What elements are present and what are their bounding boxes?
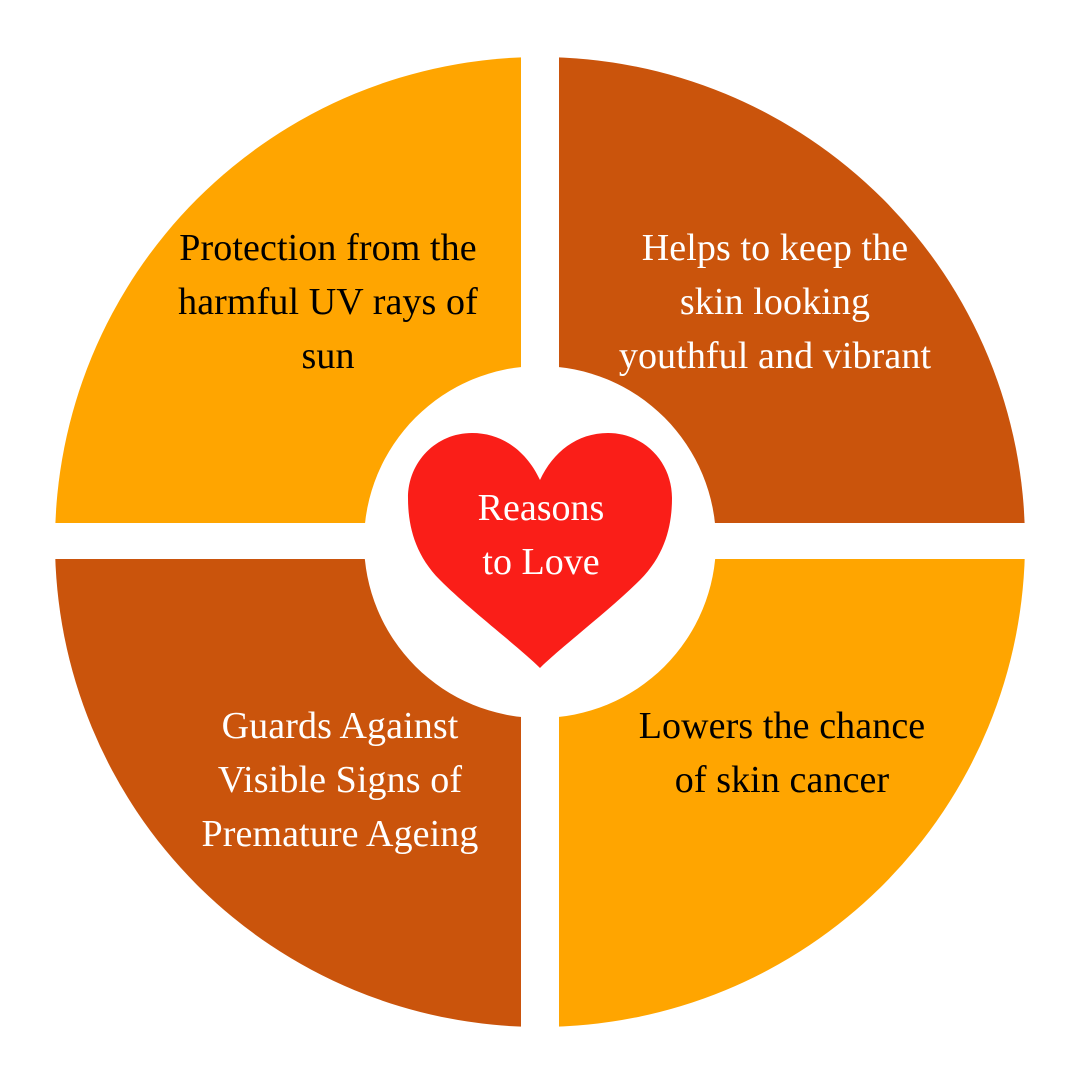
segment-label-top-left: Protection from the harmful UV rays of s… xyxy=(118,222,538,384)
infographic-canvas: Protection from the harmful UV rays of s… xyxy=(0,0,1080,1080)
segment-label-top-right: Helps to keep the skin looking youthful … xyxy=(570,222,980,384)
segment-label-bottom-right: Lowers the chance of skin cancer xyxy=(582,700,982,808)
center-heart-label: Reasons to Love xyxy=(410,482,672,590)
segment-label-bottom-left: Guards Against Visible Signs of Prematur… xyxy=(140,700,540,862)
segment-bottom-right[interactable] xyxy=(559,559,1080,1080)
